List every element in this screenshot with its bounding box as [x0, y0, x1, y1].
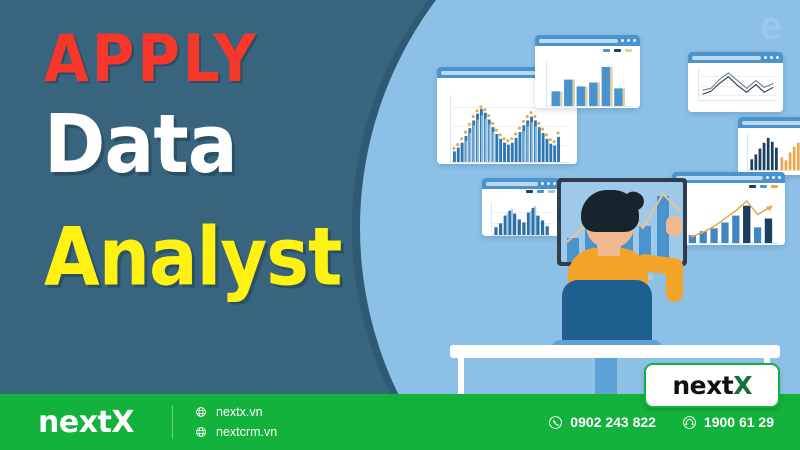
footer-link-label: nextx.vn — [216, 405, 263, 419]
headline-analyst: Analyst — [44, 216, 380, 297]
chart-svg — [549, 61, 633, 106]
window-dot-icon — [547, 182, 550, 185]
globe-icon — [195, 406, 207, 418]
chart-svg — [701, 69, 776, 100]
chart-plot-area — [487, 202, 555, 236]
window-dot-icon — [541, 182, 544, 185]
line-chart-window — [688, 52, 783, 112]
window-url-placeholder — [742, 121, 800, 125]
headline-data: Data — [44, 104, 380, 185]
window-url-placeholder — [692, 56, 761, 60]
chart-plot-area — [677, 197, 780, 244]
window-dot-icon — [764, 56, 767, 59]
window-titlebar — [688, 52, 783, 63]
desk-leg-left — [458, 358, 464, 395]
footer-links: nextx.vn nextcrm.vn — [195, 405, 277, 439]
footer-phone-support[interactable]: 1900 61 29 — [682, 414, 774, 430]
footer-divider — [172, 405, 173, 439]
window-dot-icon — [633, 39, 636, 42]
window-url-placeholder — [676, 176, 763, 180]
window-url-placeholder — [486, 182, 538, 186]
window-dot-icon — [627, 39, 630, 42]
badge-text-accent: X — [733, 371, 752, 400]
globe-icon — [195, 426, 207, 438]
bar-chart-window — [535, 35, 640, 108]
phone-circle-icon — [548, 415, 563, 430]
column-chart-window — [738, 117, 800, 175]
window-titlebar — [738, 117, 800, 128]
headline-block: APPLY Data Analyst — [0, 0, 380, 390]
window-dot-icon — [778, 176, 781, 179]
window-dot-icon — [776, 56, 779, 59]
window-dot-icon — [553, 182, 556, 185]
badge-text-main: next — [672, 371, 733, 400]
window-dot-icon — [621, 39, 624, 42]
trend-chart-window — [672, 172, 785, 245]
nextx-badge[interactable]: nextX — [644, 363, 780, 408]
window-url-placeholder — [539, 39, 618, 43]
small-bar-window — [482, 178, 560, 236]
footer-phone-label: 1900 61 29 — [704, 414, 774, 430]
window-dot-icon — [772, 176, 775, 179]
headline-apply: APPLY — [44, 26, 380, 91]
chart-svg — [452, 104, 568, 162]
window-dot-icon — [770, 56, 773, 59]
chart-legend — [749, 185, 778, 188]
chart-svg — [749, 133, 800, 170]
chair-backrest — [562, 280, 652, 348]
chart-svg — [493, 202, 553, 235]
window-body — [688, 63, 783, 112]
window-body — [535, 46, 640, 108]
window-body — [482, 189, 560, 236]
footer-link-nextcrm[interactable]: nextcrm.vn — [195, 425, 277, 439]
chart-svg — [686, 197, 777, 243]
banner-root: e APPLY Data Analyst — [0, 0, 800, 450]
footer-link-label: nextcrm.vn — [216, 425, 277, 439]
window-body — [738, 128, 800, 175]
footer-link-nextx[interactable]: nextx.vn — [195, 405, 277, 419]
chart-legend — [526, 190, 555, 193]
footer-phone-hotline[interactable]: 0902 243 822 — [548, 414, 656, 430]
window-dot-icon — [766, 176, 769, 179]
footer-brand-logo: nextX — [38, 405, 134, 440]
desk-top — [450, 345, 780, 358]
chart-plot-area — [743, 133, 800, 171]
window-titlebar — [672, 172, 785, 183]
chart-plot-area — [540, 61, 635, 107]
window-titlebar — [535, 35, 640, 46]
illustration — [420, 0, 800, 395]
person-hand — [666, 216, 682, 236]
chart-plot-area — [693, 68, 778, 101]
window-titlebar — [482, 178, 560, 189]
chart-legend — [603, 49, 632, 52]
window-body — [672, 183, 785, 245]
person-forearm — [666, 258, 683, 302]
footer-phones: 0902 243 822 1900 61 29 — [548, 414, 774, 430]
headset-icon — [682, 415, 697, 430]
footer-phone-label: 0902 243 822 — [570, 414, 656, 430]
